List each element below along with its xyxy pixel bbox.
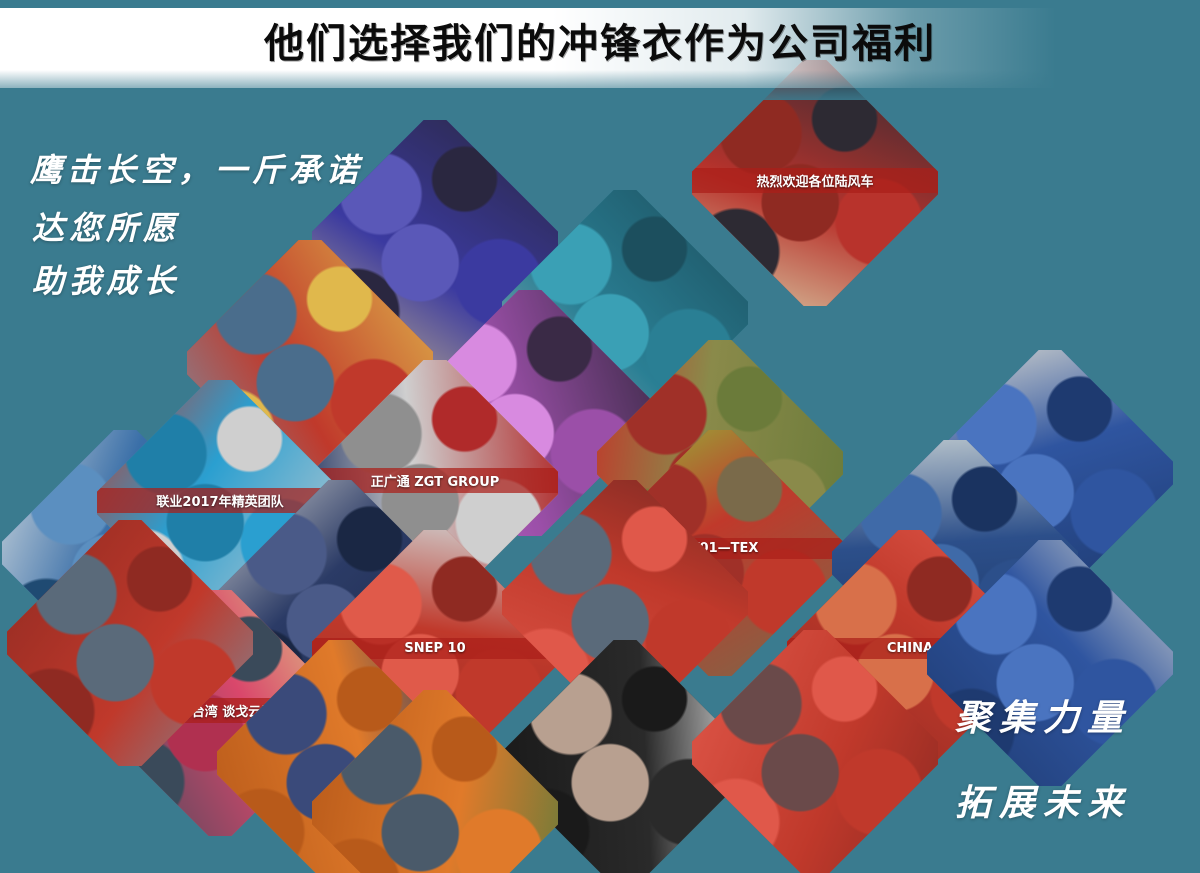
left-slogan-line-2: 达您所愿 <box>32 212 180 244</box>
banner-bottom-fade <box>0 70 1200 100</box>
header-banner: 他们选择我们的冲锋衣作为公司福利 <box>0 0 1200 100</box>
right-slogan-line-2: 拓展未来 <box>955 785 1131 821</box>
left-slogan-line-3: 助我成长 <box>32 265 180 297</box>
right-slogan-line-1: 聚集力量 <box>955 700 1131 736</box>
left-slogan-line-1: 鹰击长空，一斤承诺 <box>30 154 363 186</box>
promo-poster: 热烈欢迎各位陆风车正广通 ZGT GROUP联业2017年精英团队3T01—TE… <box>0 0 1200 873</box>
tile-caption: 热烈欢迎各位陆风车 <box>692 168 938 193</box>
page-title: 他们选择我们的冲锋衣作为公司福利 <box>0 22 1200 66</box>
